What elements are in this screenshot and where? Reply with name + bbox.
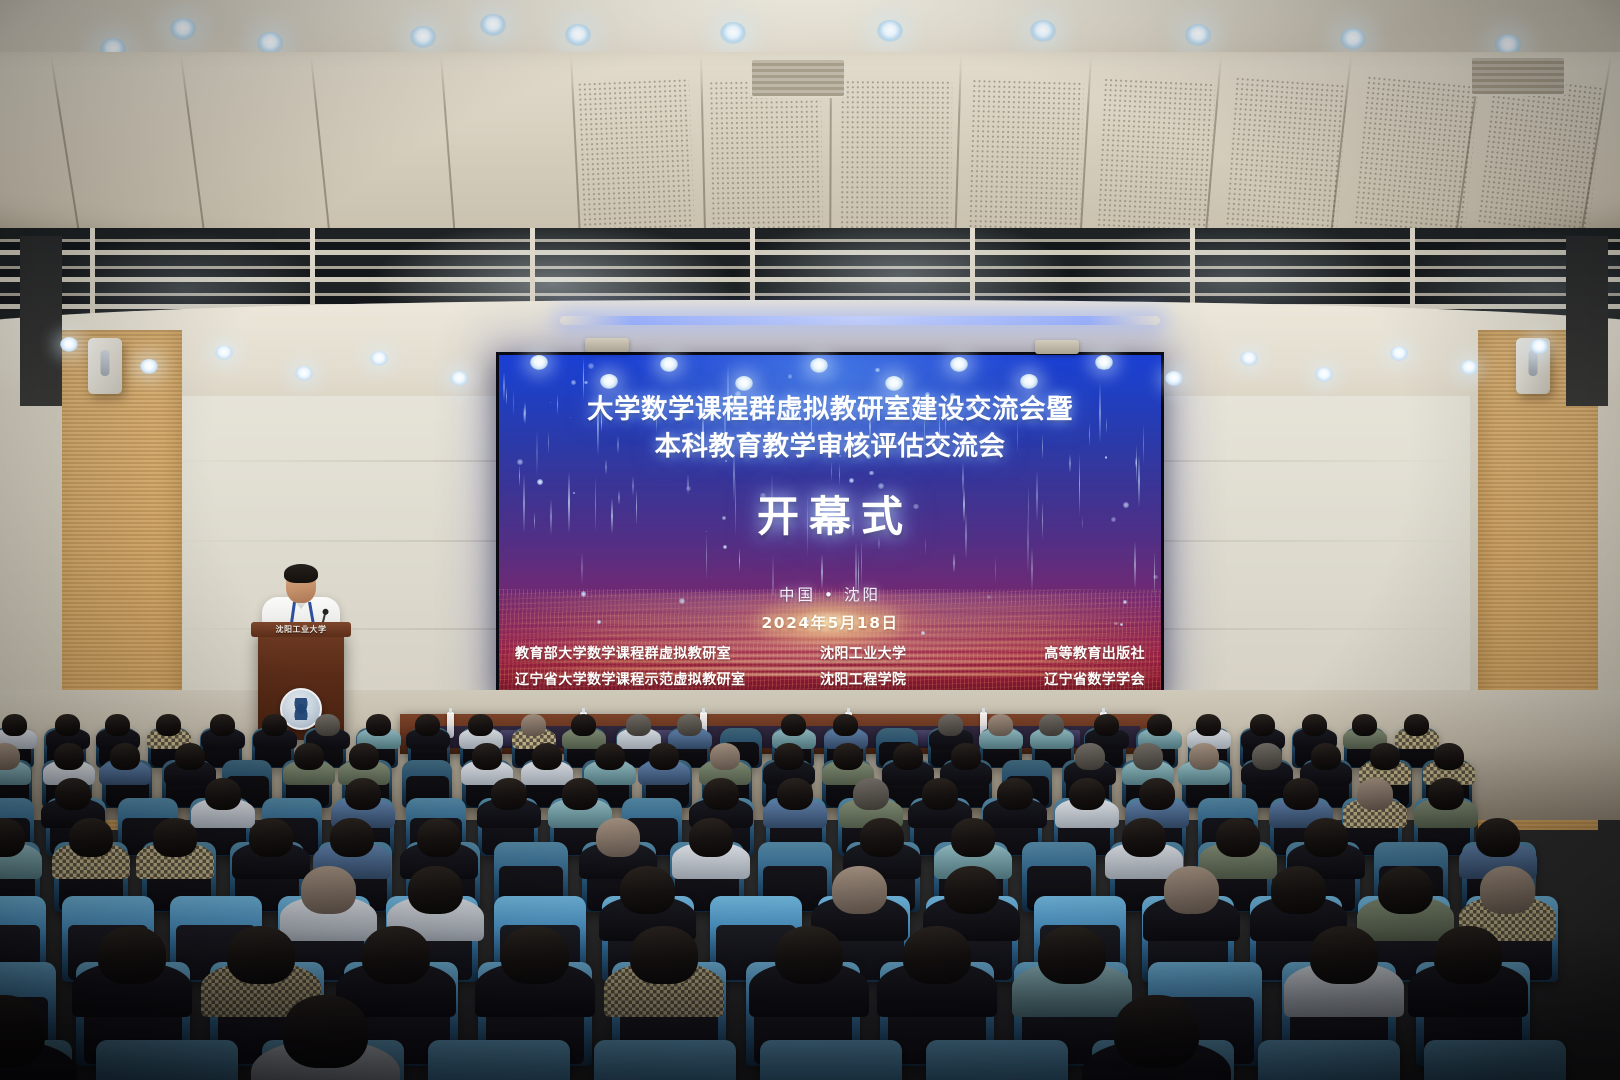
audience-person bbox=[689, 818, 733, 857]
audience-person bbox=[227, 926, 295, 984]
audience-person bbox=[951, 818, 995, 857]
ac-vent-icon bbox=[1470, 56, 1566, 96]
audience-person bbox=[596, 818, 640, 857]
screen-bokeh-dot bbox=[766, 453, 771, 458]
audience-person bbox=[249, 818, 293, 857]
acoustic-perforated-panel bbox=[1353, 75, 1478, 235]
audience-person bbox=[1196, 714, 1221, 736]
organizer-cell: 沈阳工程学院 bbox=[820, 669, 970, 689]
screen-bokeh-dot bbox=[584, 381, 587, 384]
audience-person bbox=[562, 778, 598, 810]
audience-person bbox=[774, 743, 804, 770]
audience-person bbox=[649, 743, 679, 770]
audience-person bbox=[54, 743, 84, 770]
ceiling-led-strip bbox=[560, 316, 1160, 325]
audience-person bbox=[893, 743, 923, 770]
dark-wall-column-right bbox=[1566, 236, 1608, 406]
audience-person bbox=[468, 714, 493, 736]
ceiling-downlight-icon bbox=[877, 20, 903, 42]
audience-person bbox=[362, 926, 430, 984]
audience-person bbox=[833, 714, 858, 736]
ceiling-downlight-icon bbox=[257, 32, 283, 54]
screen-bokeh-dot bbox=[679, 598, 685, 604]
audience-person bbox=[283, 995, 368, 1068]
audience-person bbox=[1164, 866, 1219, 914]
audience-person bbox=[1428, 778, 1464, 810]
audience-person bbox=[832, 866, 887, 914]
audience-person bbox=[1069, 778, 1105, 810]
audience-person bbox=[69, 818, 113, 857]
screen-city: 中国 • 沈阳 bbox=[499, 583, 1161, 605]
ceiling-downlight-icon bbox=[410, 26, 436, 48]
auditorium-scene: 大学数学课程群虚拟教研室建设交流会暨 本科教育教学审核评估交流会 开幕式 中国 … bbox=[0, 0, 1620, 1080]
audience-person bbox=[1133, 743, 1163, 770]
audience-person bbox=[205, 778, 241, 810]
screen-bokeh-dot bbox=[967, 406, 972, 411]
audience-person bbox=[833, 743, 863, 770]
audience-person bbox=[860, 818, 904, 857]
audience-person bbox=[110, 743, 140, 770]
audience-chair[interactable] bbox=[96, 1040, 238, 1080]
audience-person bbox=[777, 778, 813, 810]
audience-person bbox=[472, 743, 502, 770]
audience-person bbox=[938, 714, 963, 736]
acoustic-perforated-panel bbox=[1096, 77, 1215, 232]
audience-person bbox=[501, 926, 569, 984]
acoustic-perforated-panel bbox=[1225, 76, 1347, 234]
audience-person bbox=[345, 778, 381, 810]
organizer-cell: 高等教育出版社 bbox=[985, 643, 1145, 663]
screen-subtitle: 开幕式 bbox=[499, 483, 1161, 544]
screen-bokeh-dot bbox=[869, 471, 873, 475]
screen-bokeh-dot bbox=[875, 368, 880, 373]
audience-person bbox=[366, 714, 391, 736]
audience-person bbox=[677, 714, 702, 736]
audience-person bbox=[1370, 743, 1400, 770]
audience-person bbox=[1250, 714, 1275, 736]
audience-person bbox=[1216, 818, 1260, 857]
acoustic-perforated-panel bbox=[840, 80, 953, 231]
ceiling-downlight-icon bbox=[1030, 20, 1056, 42]
screen-bokeh-dot bbox=[517, 459, 523, 465]
audience-seating bbox=[0, 700, 1620, 1080]
audience-person bbox=[408, 866, 463, 914]
audience-person bbox=[1114, 995, 1199, 1068]
acoustic-perforated-panel bbox=[968, 79, 1084, 232]
audience-person bbox=[532, 743, 562, 770]
audience-person bbox=[1122, 818, 1166, 857]
stage-spotlight-icon bbox=[530, 355, 548, 370]
audience-person bbox=[1434, 743, 1464, 770]
ceiling-downlight-icon bbox=[565, 24, 591, 46]
stage-spotlight-icon bbox=[1315, 367, 1333, 382]
audience-person bbox=[0, 743, 20, 770]
audience-person bbox=[571, 714, 596, 736]
audience-person bbox=[105, 714, 130, 736]
audience-person bbox=[951, 743, 981, 770]
speaker-hair bbox=[284, 564, 318, 583]
screen-title-line2: 本科教育教学审核评估交流会 bbox=[499, 428, 1161, 465]
stage-spotlight-icon bbox=[1530, 339, 1548, 354]
audience-person bbox=[1038, 926, 1106, 984]
ceiling-projector-icon bbox=[585, 338, 629, 352]
dark-wall-column-left bbox=[20, 236, 62, 406]
audience-person bbox=[781, 714, 806, 736]
audience-person bbox=[330, 818, 374, 857]
audience-person bbox=[710, 743, 740, 770]
audience-person bbox=[98, 926, 166, 984]
audience-person bbox=[2, 714, 27, 736]
audience-person bbox=[153, 818, 197, 857]
audience-person bbox=[1139, 778, 1175, 810]
acoustic-perforated-panel bbox=[1477, 74, 1605, 236]
audience-person bbox=[315, 714, 340, 736]
audience-person bbox=[301, 866, 356, 914]
audience-person bbox=[1304, 818, 1348, 857]
audience-person bbox=[1476, 818, 1520, 857]
audience-person bbox=[1404, 714, 1429, 736]
ceiling-downlight-icon bbox=[170, 18, 196, 40]
led-screen[interactable]: 大学数学课程群虚拟教研室建设交流会暨 本科教育教学审核评估交流会 开幕式 中国 … bbox=[496, 352, 1164, 697]
audience-person bbox=[1147, 714, 1172, 736]
audience-person bbox=[156, 714, 181, 736]
ceiling-downlight-icon bbox=[480, 14, 506, 36]
screen-bokeh-dot bbox=[913, 504, 918, 509]
stage-spotlight-icon bbox=[735, 376, 753, 391]
organizer-cell: 辽宁省大学数学课程示范虚拟教研室 bbox=[515, 669, 805, 689]
audience-person bbox=[294, 743, 324, 770]
audience-chair[interactable] bbox=[760, 1040, 902, 1080]
audience-person bbox=[1357, 778, 1393, 810]
audience-chair[interactable] bbox=[594, 1040, 736, 1080]
ceiling-downlight-icon bbox=[1185, 24, 1211, 46]
led-screen-content: 大学数学课程群虚拟教研室建设交流会暨 本科教育教学审核评估交流会 开幕式 中国 … bbox=[499, 355, 1161, 694]
audience-person bbox=[491, 778, 527, 810]
screen-bokeh-dot bbox=[1114, 622, 1117, 625]
screen-bokeh-dot bbox=[950, 393, 955, 398]
acoustic-perforated-panel bbox=[709, 79, 824, 231]
audience-person bbox=[703, 778, 739, 810]
audience-person bbox=[417, 818, 461, 857]
screen-bokeh-dot bbox=[735, 391, 741, 397]
audience-person bbox=[1480, 866, 1535, 914]
ceiling-downlight-icon bbox=[1340, 28, 1366, 50]
audience-chair[interactable] bbox=[1258, 1040, 1400, 1080]
stage-spotlight-icon bbox=[885, 376, 903, 391]
audience-person bbox=[1302, 714, 1327, 736]
ceiling-projector-icon bbox=[1035, 340, 1079, 354]
audience-person bbox=[853, 778, 889, 810]
screen-bokeh-dot bbox=[921, 631, 925, 635]
audience-person bbox=[1378, 866, 1433, 914]
audience-person bbox=[55, 778, 91, 810]
audience-person bbox=[1352, 714, 1377, 736]
podium-nameplate: 沈阳工业大学 bbox=[262, 624, 340, 635]
audience-person bbox=[210, 714, 235, 736]
audience-chair[interactable] bbox=[428, 1040, 570, 1080]
audience-person bbox=[262, 714, 287, 736]
screen-bokeh-dot bbox=[849, 478, 854, 483]
screen-bokeh-dot bbox=[686, 403, 689, 406]
ac-vent-icon bbox=[750, 58, 846, 98]
stage-spotlight-icon bbox=[810, 358, 828, 373]
audience-person bbox=[988, 714, 1013, 736]
audience-person bbox=[903, 926, 971, 984]
screen-organizer-row-2: 辽宁省大学数学课程示范虚拟教研室 沈阳工程学院 辽宁省数学学会 bbox=[515, 669, 1145, 689]
audience-person bbox=[521, 714, 546, 736]
audience-person bbox=[595, 743, 625, 770]
wall-speaker-left bbox=[88, 338, 122, 394]
screen-bokeh-dot bbox=[1111, 517, 1116, 522]
audience-person bbox=[1310, 926, 1378, 984]
audience-person bbox=[922, 778, 958, 810]
screen-bokeh-dot bbox=[1120, 623, 1123, 626]
audience-person bbox=[1271, 866, 1326, 914]
screen-title-line1: 大学数学课程群虚拟教研室建设交流会暨 bbox=[499, 391, 1161, 428]
audience-person bbox=[1039, 714, 1064, 736]
audience-person bbox=[1283, 778, 1319, 810]
audience-person bbox=[1075, 743, 1105, 770]
screen-bokeh-dot bbox=[878, 483, 884, 489]
audience-person bbox=[1252, 743, 1282, 770]
audience-person bbox=[55, 714, 80, 736]
audience-person bbox=[1094, 714, 1119, 736]
audience-person bbox=[1311, 743, 1341, 770]
audience-person bbox=[1189, 743, 1219, 770]
stage-spotlight-icon bbox=[370, 351, 388, 366]
acoustic-perforated-panel bbox=[577, 78, 695, 232]
audience-chair[interactable] bbox=[1424, 1040, 1566, 1080]
organizer-cell: 辽宁省数学学会 bbox=[985, 669, 1145, 689]
audience-person bbox=[630, 926, 698, 984]
audience-person bbox=[415, 714, 440, 736]
ceiling-downlight-icon bbox=[720, 22, 746, 44]
organizer-cell: 沈阳工业大学 bbox=[820, 643, 970, 663]
audience-person bbox=[775, 926, 843, 984]
audience-person bbox=[626, 714, 651, 736]
screen-organizer-row-1: 教育部大学数学课程群虚拟教研室 沈阳工业大学 高等教育出版社 bbox=[515, 643, 1145, 663]
organizer-cell: 教育部大学数学课程群虚拟教研室 bbox=[515, 643, 805, 663]
audience-person bbox=[997, 778, 1033, 810]
audience-person bbox=[944, 866, 999, 914]
stage-spotlight-icon bbox=[215, 345, 233, 360]
stage-spotlight-icon bbox=[1390, 346, 1408, 361]
audience-person bbox=[349, 743, 379, 770]
audience-chair[interactable] bbox=[926, 1040, 1068, 1080]
stage-spotlight-icon bbox=[1095, 355, 1113, 370]
audience-person bbox=[1434, 926, 1502, 984]
screen-bokeh-dot bbox=[1153, 575, 1158, 580]
audience-person bbox=[620, 866, 675, 914]
audience-person bbox=[175, 743, 205, 770]
